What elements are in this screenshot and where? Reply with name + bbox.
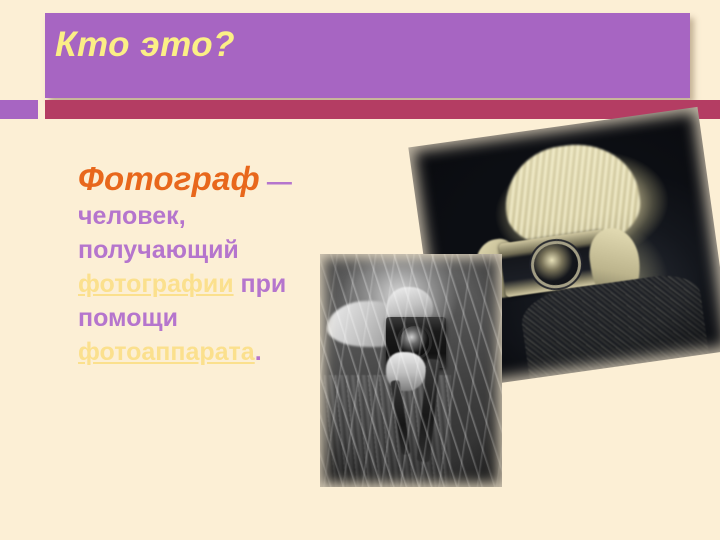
accent-bar xyxy=(45,100,720,119)
slide-body-text: Фотограф — человек, получающий фотографи… xyxy=(78,162,310,369)
link-photographs[interactable]: фотографии xyxy=(78,270,234,298)
photo-camera-bw xyxy=(320,254,502,487)
slide-title: Кто это? xyxy=(55,25,235,65)
definition-text-part-3: . xyxy=(255,338,262,366)
definition-text-part-1: человек, получающий xyxy=(78,202,239,264)
link-camera[interactable]: фотоаппарата xyxy=(78,338,255,366)
definition-term: Фотограф xyxy=(78,160,260,197)
definition-dash: — xyxy=(260,168,292,196)
slide-title-box: Кто это? xyxy=(45,13,690,98)
presentation-slide: Кто это? Фотограф — человек, получающий … xyxy=(0,0,720,540)
bw-feathered-edge xyxy=(320,254,502,487)
accent-square xyxy=(0,100,38,119)
